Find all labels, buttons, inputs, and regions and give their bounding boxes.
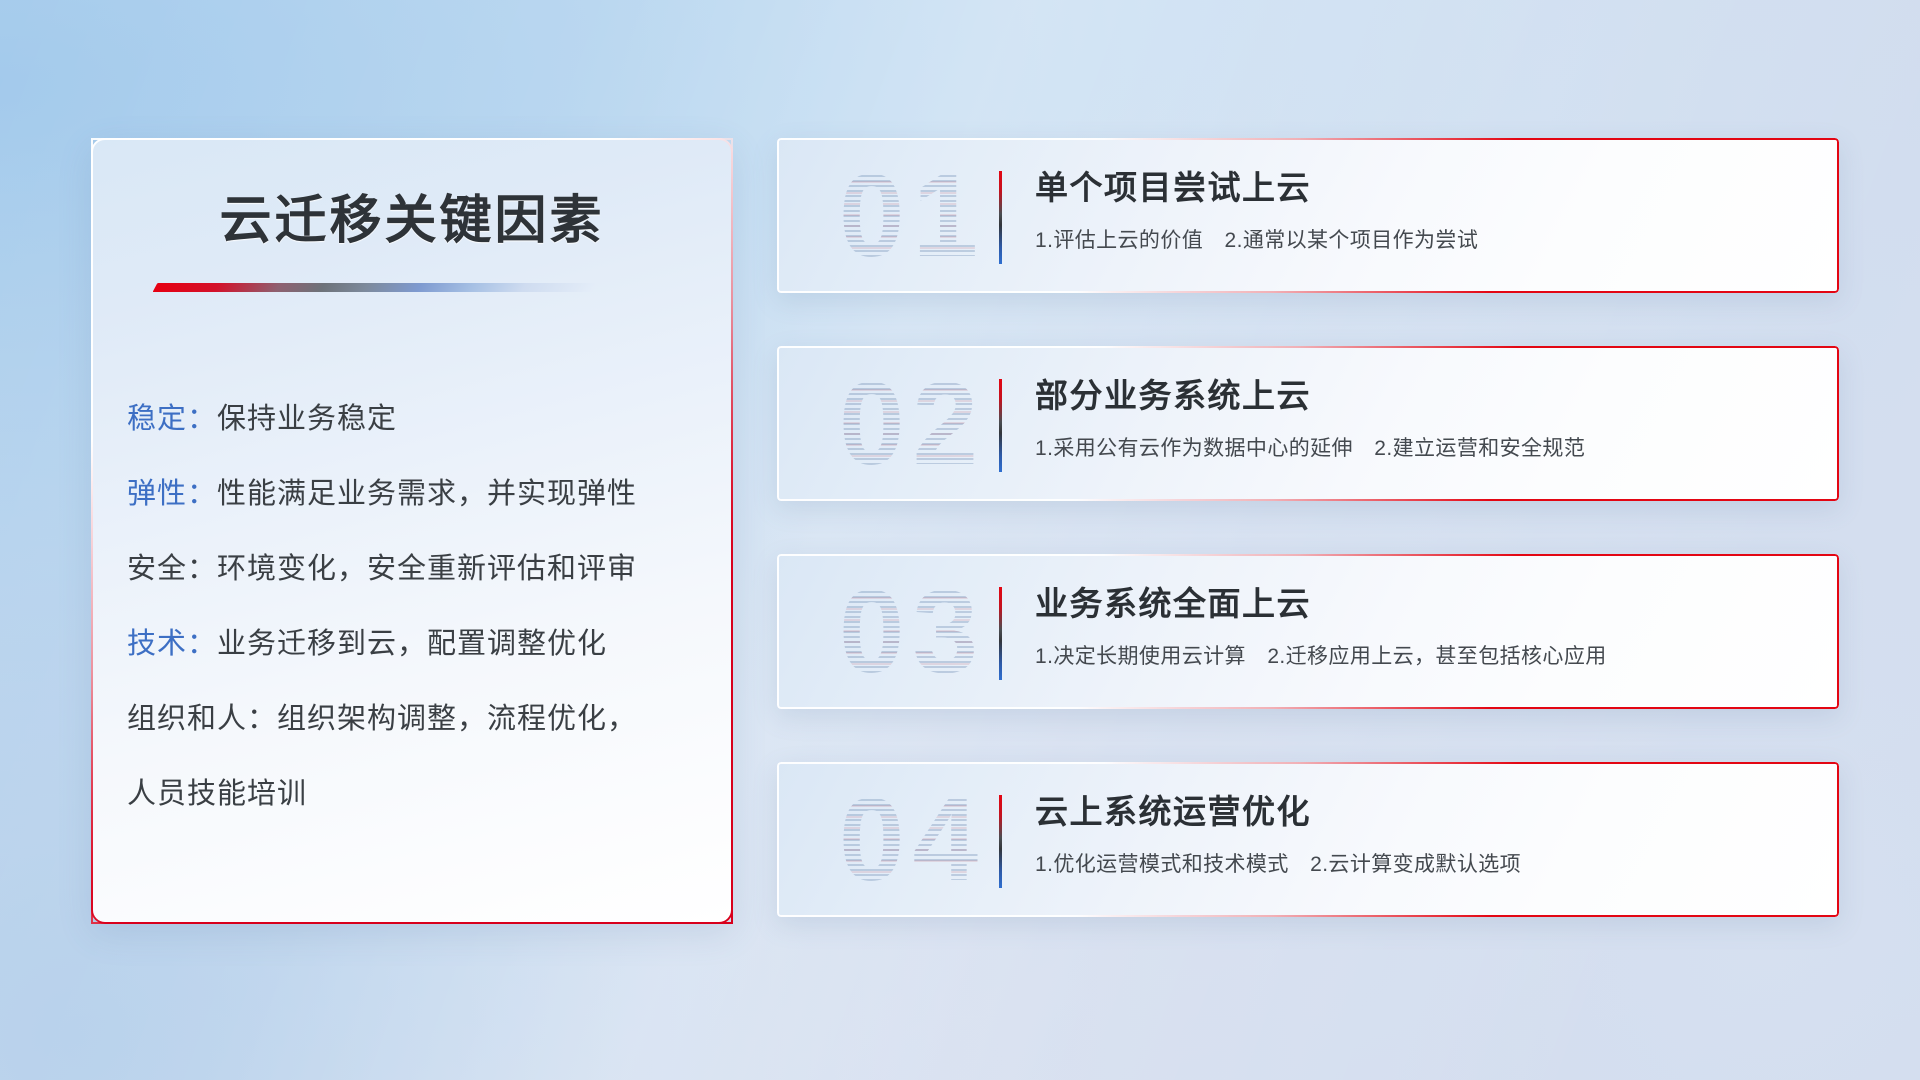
factor-colon: ： bbox=[187, 628, 217, 660]
step-title: 部分业务系统上云 bbox=[1035, 372, 1815, 420]
step-number-ghost: 03 bbox=[795, 566, 1030, 698]
step-title: 业务系统全面上云 bbox=[1035, 580, 1815, 628]
step-card-04[interactable]: 04 04 云上系统运营优化 1.优化运营模式和技术模式 2.云计算变成默认选项 bbox=[777, 762, 1839, 917]
step-card-body: 单个项目尝试上云 1.评估上云的价值 2.通常以某个项目作为尝试 bbox=[1035, 164, 1815, 256]
factor-text: 人员技能培训 bbox=[127, 778, 307, 810]
step-subtitle: 1.决定长期使用云计算 2.迁移应用上云，甚至包括核心应用 bbox=[1035, 642, 1815, 672]
step-number-ghost: 02 bbox=[795, 358, 1030, 490]
step-number-ghost: 01 bbox=[795, 150, 1030, 282]
migration-steps-list: 01 01 单个项目尝试上云 1.评估上云的价值 2.通常以某个项目作为尝试 0… bbox=[777, 138, 1839, 917]
accent-bar bbox=[999, 171, 1002, 264]
step-subtitle: 1.评估上云的价值 2.通常以某个项目作为尝试 bbox=[1035, 226, 1815, 256]
slide-canvas: 云迁移关键因素 稳定：保持业务稳定 弹性：性能满足业务需求，并实现弹性 安全：环… bbox=[0, 0, 1920, 1080]
accent-bar bbox=[999, 379, 1002, 472]
factor-colon: ： bbox=[187, 478, 217, 510]
step-card-body: 云上系统运营优化 1.优化运营模式和技术模式 2.云计算变成默认选项 bbox=[1035, 788, 1815, 880]
key-factors-list: 稳定：保持业务稳定 弹性：性能满足业务需求，并实现弹性 安全：环境变化，安全重新… bbox=[91, 382, 733, 832]
factor-label: 弹性 bbox=[127, 478, 187, 510]
step-subtitle: 1.采用公有云作为数据中心的延伸 2.建立运营和安全规范 bbox=[1035, 434, 1815, 464]
factor-colon: ： bbox=[187, 553, 217, 585]
step-number-ghost-tint: 01 bbox=[795, 150, 1030, 282]
factor-text: 业务迁移到云，配置调整优化 bbox=[217, 628, 607, 660]
step-number-ghost: 04 bbox=[795, 774, 1030, 906]
factor-text: 环境变化，安全重新评估和评审 bbox=[217, 553, 637, 585]
factor-text: 组织架构调整，流程优化， bbox=[277, 703, 637, 735]
step-card-01[interactable]: 01 01 单个项目尝试上云 1.评估上云的价值 2.通常以某个项目作为尝试 bbox=[777, 138, 1839, 293]
step-title: 单个项目尝试上云 bbox=[1035, 164, 1815, 212]
step-number-ghost-tint: 02 bbox=[795, 358, 1030, 490]
factor-row: 技术：业务迁移到云，配置调整优化 bbox=[127, 607, 697, 682]
step-number-ghost-tint: 04 bbox=[795, 774, 1030, 906]
step-card-body: 部分业务系统上云 1.采用公有云作为数据中心的延伸 2.建立运营和安全规范 bbox=[1035, 372, 1815, 464]
factor-row: 稳定：保持业务稳定 bbox=[127, 382, 697, 457]
step-card-03[interactable]: 03 03 业务系统全面上云 1.决定长期使用云计算 2.迁移应用上云，甚至包括… bbox=[777, 554, 1839, 709]
factor-row: 安全：环境变化，安全重新评估和评审 bbox=[127, 532, 697, 607]
factor-text: 性能满足业务需求，并实现弹性 bbox=[217, 478, 637, 510]
factor-colon: ： bbox=[187, 403, 217, 435]
page-title: 云迁移关键因素 bbox=[91, 178, 733, 253]
step-subtitle: 1.优化运营模式和技术模式 2.云计算变成默认选项 bbox=[1035, 850, 1815, 880]
factor-colon: ： bbox=[247, 703, 277, 735]
factor-row: 人员技能培训 bbox=[127, 757, 697, 832]
factor-row: 组织和人：组织架构调整，流程优化， bbox=[127, 682, 697, 757]
factor-label: 稳定 bbox=[127, 403, 187, 435]
step-card-02[interactable]: 02 02 部分业务系统上云 1.采用公有云作为数据中心的延伸 2.建立运营和安… bbox=[777, 346, 1839, 501]
step-card-body: 业务系统全面上云 1.决定长期使用云计算 2.迁移应用上云，甚至包括核心应用 bbox=[1035, 580, 1815, 672]
factor-text: 保持业务稳定 bbox=[217, 403, 397, 435]
step-number-ghost-tint: 03 bbox=[795, 566, 1030, 698]
factor-label: 技术 bbox=[127, 628, 187, 660]
title-underline-gradient bbox=[153, 283, 598, 292]
factor-label: 安全 bbox=[127, 553, 187, 585]
accent-bar bbox=[999, 795, 1002, 888]
step-title: 云上系统运营优化 bbox=[1035, 788, 1815, 836]
factor-label: 组织和人 bbox=[127, 703, 247, 735]
factor-row: 弹性：性能满足业务需求，并实现弹性 bbox=[127, 457, 697, 532]
accent-bar bbox=[999, 587, 1002, 680]
